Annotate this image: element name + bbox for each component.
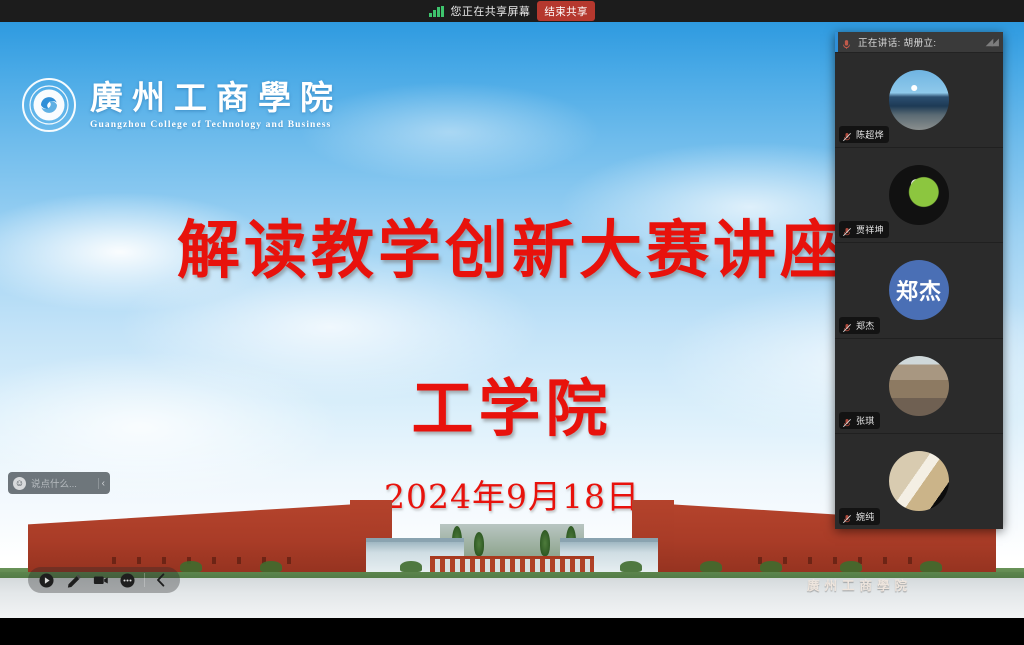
shrub xyxy=(620,561,642,572)
microphone-muted-icon xyxy=(842,224,853,235)
participant-name: 贾祥坤 xyxy=(856,223,884,236)
participants-panel[interactable]: 正在讲话: 胡册立: ◢◢ 陈超烨 贾祥坤 郑杰 xyxy=(835,32,1003,529)
play-button[interactable] xyxy=(34,570,59,590)
toolbar-divider xyxy=(144,573,145,587)
avatar xyxy=(889,165,949,225)
pencil-button[interactable] xyxy=(61,570,86,590)
chat-input-bar[interactable]: ☺ 说点什么... ‹ xyxy=(8,472,110,494)
participant-tile[interactable]: 张琪 xyxy=(835,339,1003,434)
bottom-letterbox xyxy=(0,618,1024,645)
campus-gate-barrier xyxy=(430,556,594,572)
chat-input-placeholder[interactable]: 说点什么... xyxy=(31,476,93,490)
shrub xyxy=(260,561,282,572)
avatar-initials: 郑杰 xyxy=(896,274,942,306)
more-button[interactable] xyxy=(115,570,140,590)
participant-name: 陈超烨 xyxy=(856,128,884,141)
logo-english-name: Guangzhou College of Technology and Busi… xyxy=(90,120,342,130)
participant-name-chip: 婉纯 xyxy=(839,508,880,525)
avatar: 郑杰 xyxy=(889,260,949,320)
shrub xyxy=(920,561,942,572)
screen-share-bar: 您正在共享屏幕 结束共享 xyxy=(0,0,1024,22)
participant-name-chip: 陈超烨 xyxy=(839,126,889,143)
participant-name-chip: 贾祥坤 xyxy=(839,221,889,238)
participant-tile[interactable]: 婉纯 xyxy=(835,434,1003,529)
participant-tile[interactable]: 陈超烨 xyxy=(835,53,1003,148)
participant-tile[interactable]: 郑杰 郑杰 xyxy=(835,243,1003,338)
participant-name-chip: 张琪 xyxy=(839,412,880,429)
shrub xyxy=(180,561,202,572)
campus-wall-sign: 廣州工商學院 xyxy=(807,575,912,594)
emoji-icon[interactable]: ☺ xyxy=(13,477,26,490)
cloud-decoration xyxy=(300,82,600,182)
microphone-muted-icon xyxy=(842,320,853,331)
microphone-muted-icon xyxy=(842,415,853,426)
participant-name-chip: 郑杰 xyxy=(839,317,880,334)
university-seal-icon xyxy=(22,78,76,132)
participants-panel-header[interactable]: 正在讲话: 胡册立: ◢◢ xyxy=(835,32,1003,53)
resize-handle-icon[interactable]: ◢◢ xyxy=(986,37,997,48)
tree xyxy=(540,530,550,556)
participant-name: 郑杰 xyxy=(856,319,875,332)
microphone-icon xyxy=(841,37,852,48)
microphone-muted-icon xyxy=(842,511,853,522)
shrub xyxy=(840,561,862,572)
participant-name: 婉纯 xyxy=(856,510,875,523)
logo-chinese-name: 廣州工商學院 xyxy=(90,80,342,116)
participant-tile[interactable]: 贾祥坤 xyxy=(835,148,1003,243)
window-row-right xyxy=(758,557,912,564)
avatar xyxy=(889,70,949,130)
participant-name: 张琪 xyxy=(856,414,875,427)
shrub xyxy=(700,561,722,572)
stop-share-button[interactable]: 结束共享 xyxy=(537,1,595,21)
chevron-left-icon[interactable]: ‹ xyxy=(98,478,105,489)
collapse-button[interactable] xyxy=(149,570,174,590)
participant-tile-list: 陈超烨 贾祥坤 郑杰 郑杰 xyxy=(835,53,1003,529)
avatar xyxy=(889,356,949,416)
university-logo: 廣州工商學院 Guangzhou College of Technology a… xyxy=(22,78,342,132)
avatar xyxy=(889,451,949,511)
shrub xyxy=(760,561,782,572)
microphone-muted-icon xyxy=(842,129,853,140)
speaking-status-label: 正在讲话: 胡册立: xyxy=(858,35,936,49)
video-camera-button[interactable] xyxy=(88,570,113,590)
annotation-toolbar[interactable] xyxy=(28,567,180,593)
signal-bars-icon xyxy=(429,6,444,17)
tree xyxy=(474,532,484,556)
shrub xyxy=(400,561,422,572)
share-status-text: 您正在共享屏幕 xyxy=(451,3,531,19)
